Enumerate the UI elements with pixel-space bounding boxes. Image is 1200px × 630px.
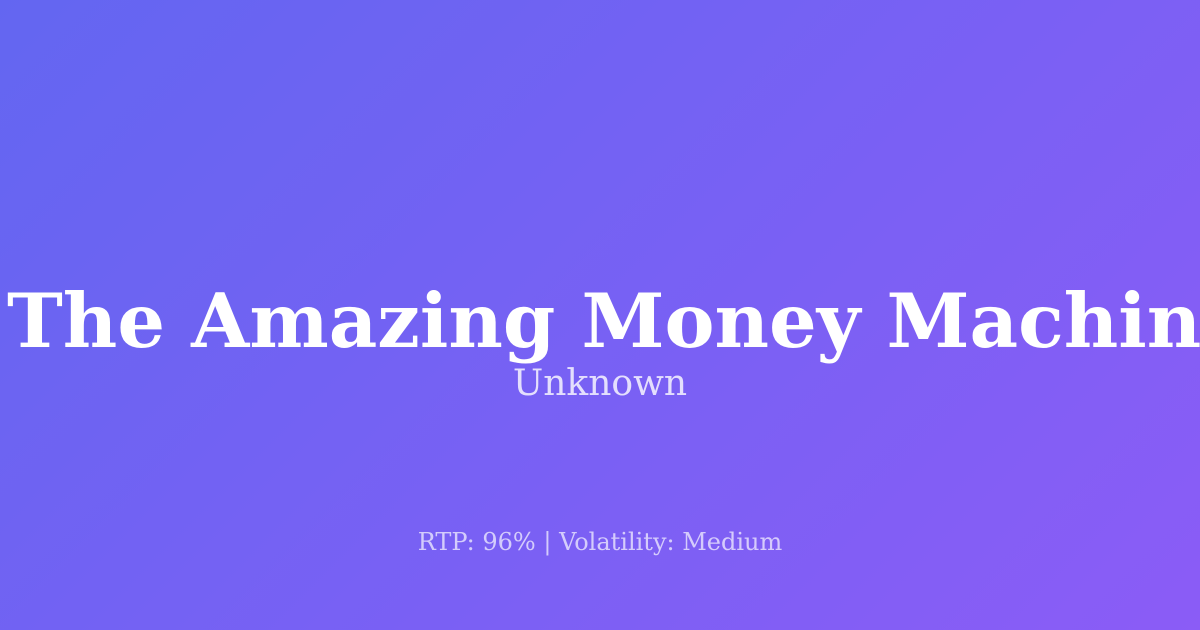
page-title: The Amazing Money Machine bbox=[7, 282, 1200, 362]
game-stats: RTP: 96% | Volatility: Medium bbox=[0, 528, 1200, 557]
subtitle: Unknown bbox=[0, 362, 1200, 405]
og-preview-card: F 0 The Amazing Money Machine Unknown RT… bbox=[0, 0, 1200, 630]
